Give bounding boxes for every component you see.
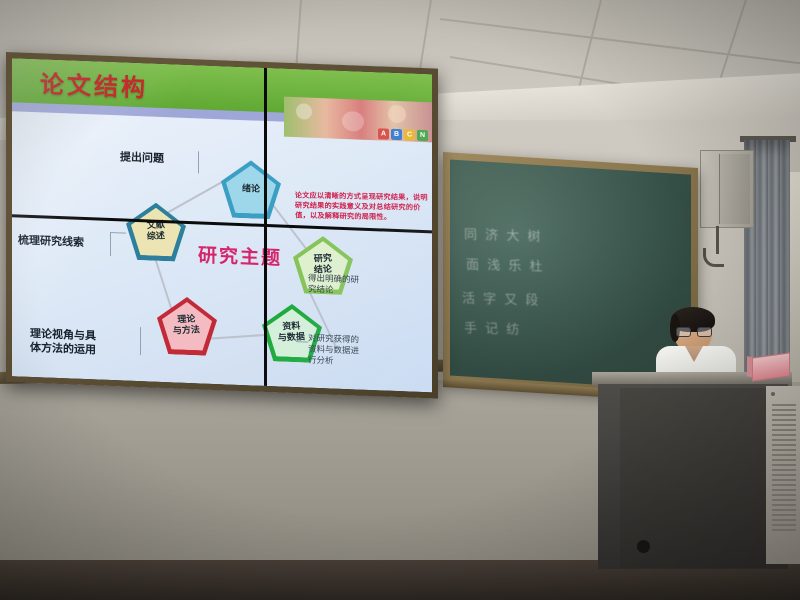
node-lilun-line2: 与方法 [173,325,201,337]
block-a: A [378,128,389,139]
slide-red-paragraph: 论文应以清晰的方式呈现研究结果，说明研究结果的实践意义及对总结研究的价值，以及解… [295,191,432,223]
slide-title: 论文结构 [40,64,148,103]
annotation-jielun-line2: 究结论 [308,285,359,298]
chalk-line-3: 活 字 又 段 [462,288,541,309]
chalk-line-4: 手 记 纺 [464,317,522,338]
speaker-face [719,154,750,224]
annotation-shuli-xiansuo: 梳理研究线索 [18,233,84,250]
cabinet-vents [772,404,796,534]
node-wenxian-label: 文献 综述 [147,220,165,243]
classroom-scene: 同 济 大 树 面 浅 乐 杜 活 字 又 段 手 记 纺 论文结构 A B [0,0,800,600]
annotation-tichu-wenti: 提出问题 [120,150,164,166]
presenter-glasses [676,327,710,335]
glasses-lens-left [676,327,691,337]
wall-speaker [700,150,754,228]
glasses-lens-right [697,327,712,337]
video-wall[interactable]: 论文结构 A B C N 论文应以清晰的方式呈现研究结果，说明研究结果的实践意义… [12,58,432,392]
cabinet-knob[interactable] [771,392,775,396]
leader-shuli [110,232,111,256]
node-wenxian-line2: 综述 [147,231,166,243]
slide-center-label: 研究主题 [198,240,282,270]
node-lilun-label: 理论 与方法 [173,314,200,337]
node-wenxian[interactable]: 文献 综述 [126,202,186,262]
node-lilun[interactable]: 理论 与方法 [157,296,217,356]
leader-tichu [198,151,199,173]
podium-cable-hole [637,540,650,553]
alphabet-blocks: A B C N [378,128,428,141]
chalk-line-2: 面 浅 乐 杜 [466,254,545,275]
connector-wenxian-xulun [159,178,227,217]
chalk-line-1: 同 济 大 树 [464,224,543,245]
annotation-ziliao-line3: 行分析 [308,356,359,369]
block-n: N [417,130,428,141]
annotation-dui-yanjiu: 对研究获得的 资料与数据进 行分析 [308,334,359,369]
video-wall-frame: 论文结构 A B C N 论文应以清晰的方式呈现研究结果，说明研究结果的实践意义… [6,52,438,399]
annotation-lilun-line2: 体方法的运用 [30,341,96,358]
blackboard[interactable]: 同 济 大 树 面 浅 乐 杜 活 字 又 段 手 记 纺 [450,159,691,390]
annotation-lilun-shijiao: 理论视角与具 体方法的运用 [30,327,96,358]
connector-ziliao-lilun [208,334,270,340]
node-xulun-label: 绪论 [242,184,260,196]
annotation-dechu-jielun: 得出明确的研 究结论 [308,274,359,298]
leader-shuli-h [110,232,126,234]
block-c: C [404,129,415,140]
leader-lilun [140,327,141,355]
block-b: B [391,129,402,140]
node-ziliao-line2: 与数据 [278,332,306,344]
node-xulun[interactable]: 绪论 [221,159,281,219]
